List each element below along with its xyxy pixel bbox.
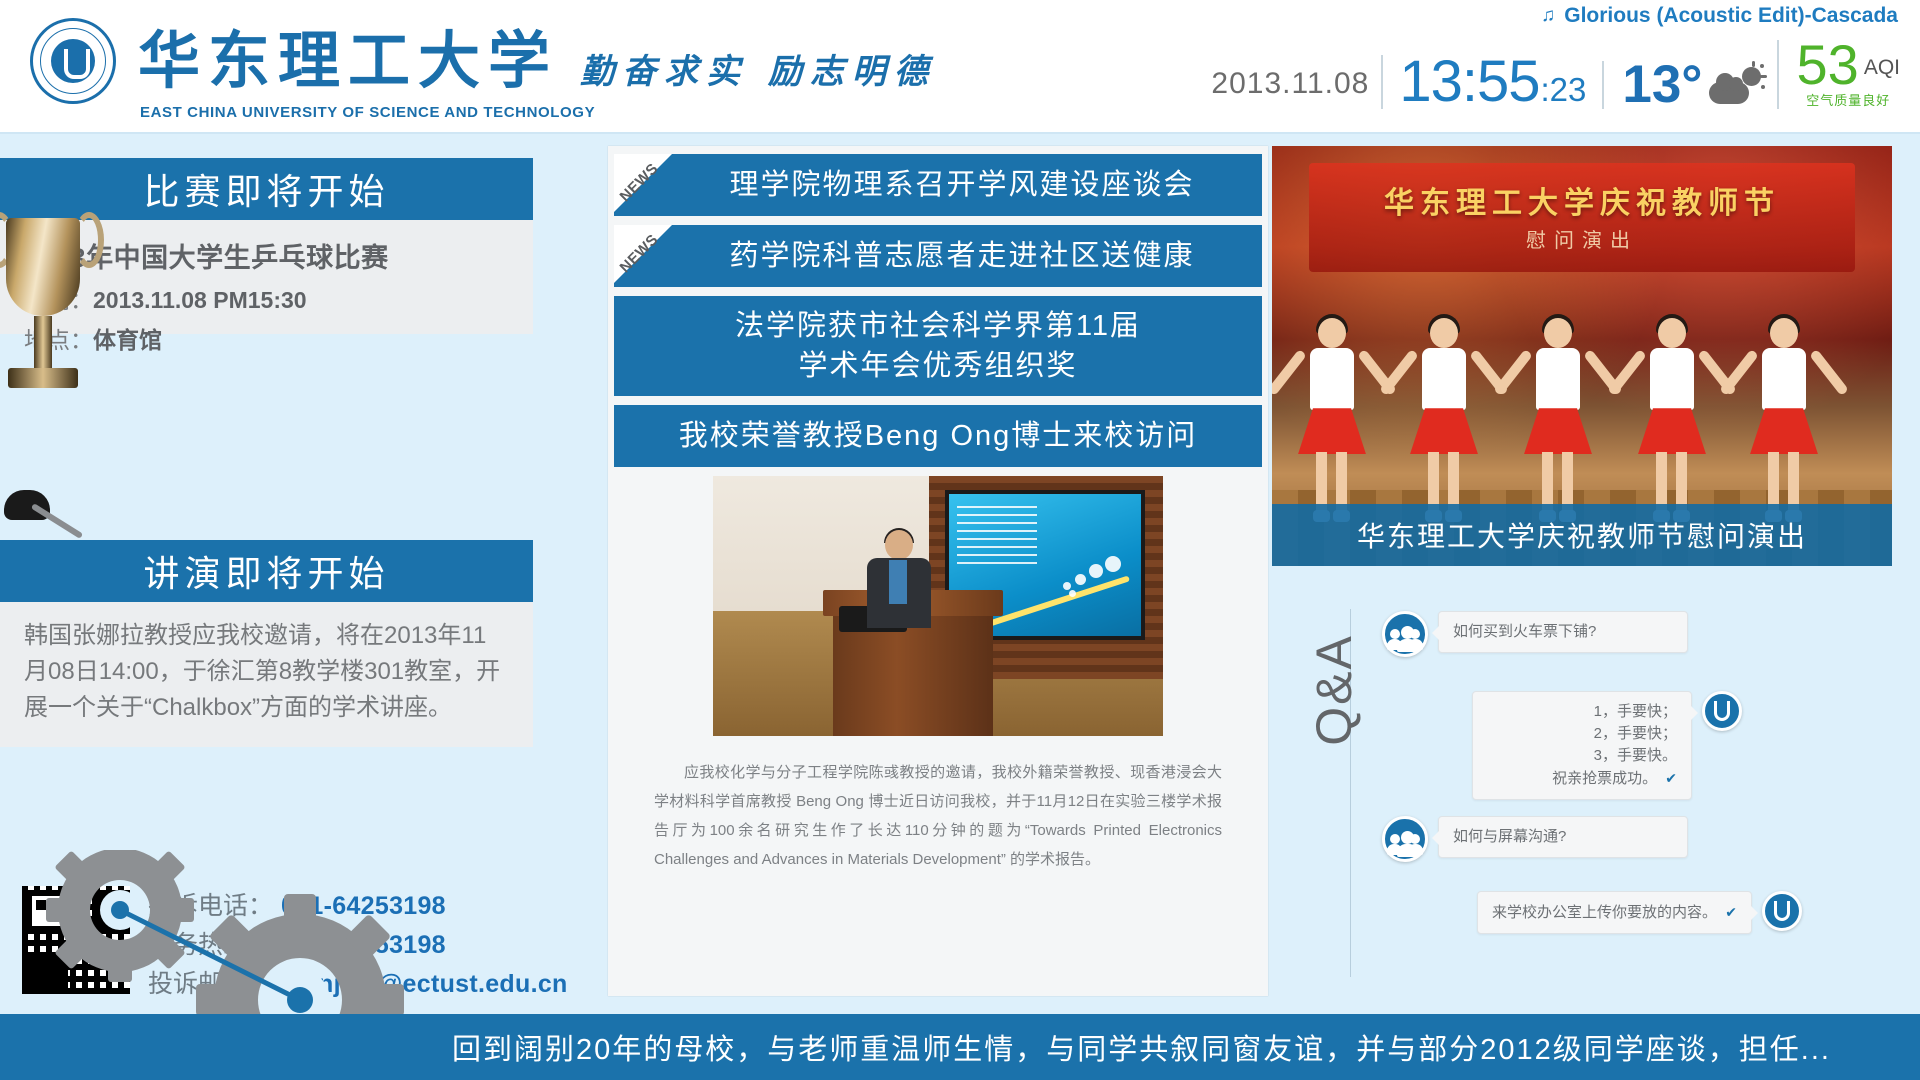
match-place-row: 地点：体育馆 [24,321,509,355]
admin-avatar-icon [1762,891,1802,931]
question-text: 如何与屏幕沟通? [1453,828,1566,845]
trophy-image [0,198,90,488]
stage-banner-line1: 华东理工大学庆祝教师节 [1309,178,1855,222]
page-header: 华东理工大学 EAST CHINA UNIVERSITY OF SCIENCE … [0,0,1920,134]
news-item-text: 药学院科普志愿者走进社区送健康 [729,236,1194,276]
question-bubble: 如何与屏幕沟通? [1438,816,1688,858]
dancer-figure [1290,318,1374,528]
aqi-description: 空气质量良好 [1797,90,1900,109]
news-item[interactable]: 我校荣誉教授Beng Ong博士来校访问 [614,405,1262,467]
dancer-figure [1402,318,1486,528]
qa-message-answer: 来学校办公室上传你要放的内容。 ✔ [1477,891,1802,934]
news-item[interactable]: NEWS 理学院物理系召开学风建设座谈会 [614,154,1262,216]
qa-section-label: Q&A [1305,620,1363,760]
event-photo[interactable]: 华东理工大学庆祝教师节 慰问演出 [1272,146,1892,566]
center-column: NEWS 理学院物理系召开学风建设座谈会 NEWS 药学院科普志愿者走进社区送健… [608,146,1268,996]
admin-avatar-icon [1702,691,1742,731]
temperature-value: 13° [1622,61,1702,110]
news-list: NEWS 理学院物理系召开学风建设座谈会 NEWS 药学院科普志愿者走进社区送健… [608,154,1268,476]
stage-banner: 华东理工大学庆祝教师节 慰问演出 [1309,163,1855,272]
university-motto: 勤奋求实 励志明德 [580,44,936,93]
aqi-unit: AQI [1864,56,1900,80]
qa-section: Q&A 如何买到火车票下铺? 1，手要快； 2，手要快； 3，手要快。 祝亲抢票… [1272,601,1902,1001]
question-text: 如何买到火车票下铺? [1453,623,1596,640]
event-photo-caption: 华东理工大学庆祝教师节慰问演出 [1272,504,1892,566]
now-playing-title: Glorious (Acoustic Edit)-Cascada [1564,4,1898,28]
news-item-text: 法学院获市社会科学界第11届 学术年会优秀组织奖 [735,306,1141,386]
university-logo: 华东理工大学 [30,18,558,104]
dancer-figure [1516,318,1600,528]
news-item[interactable]: 法学院获市社会科学界第11届 学术年会优秀组织奖 [614,296,1262,396]
match-time-row: 时间：2013.11.08 PM15:30 [24,281,509,315]
lecture-description: 韩国张娜拉教授应我校邀请，将在2013年11月08日14:00，于徐汇第8教学楼… [24,618,509,726]
weather-widget: 13° [1602,61,1776,110]
clock-seconds: :23 [1540,71,1586,109]
news-item-text: 理学院物理系召开学风建设座谈会 [729,165,1194,205]
left-column: 比赛即将开始 2013年中国大学生乒乓球比赛 时间：2013.11.08 PM1… [0,136,600,1080]
sun-behind-cloud-icon [1709,64,1763,106]
lecture-panel-body: 韩国张娜拉教授应我校邀请，将在2013年11月08日14:00，于徐汇第8教学楼… [0,602,533,747]
news-ticker: 回到阔别20年的母校，与老师重温师生情，与同学共叙同窗友谊，并与部分2012级同… [0,1014,1920,1080]
dancer-figure [1742,318,1826,528]
speaker-figure [863,530,933,626]
right-column: 华东理工大学庆祝教师节 慰问演出 [1272,146,1920,1046]
university-name-en: EAST CHINA UNIVERSITY OF SCIENCE AND TEC… [140,104,595,121]
question-bubble: 如何买到火车票下铺? [1438,611,1688,653]
answer-bubble: 来学校办公室上传你要放的内容。 ✔ [1477,891,1752,934]
status-bar: 2013.11.08 13:55 :23 13° 53 [1211,40,1900,109]
answer-text: 来学校办公室上传你要放的内容。 [1492,904,1717,921]
qa-message-answer: 1，手要快； 2，手要快； 3，手要快。 祝亲抢票成功。 ✔ [1472,691,1742,800]
lecture-panel-heading: 讲演即将开始 [0,540,533,602]
users-avatar-icon [1382,816,1428,862]
stage-banner-line2: 慰问演出 [1309,224,1855,253]
now-playing: ♫ Glorious (Acoustic Edit)-Cascada [1541,4,1898,28]
chart-dots [1059,556,1119,602]
signage-screen: 华东理工大学 EAST CHINA UNIVERSITY OF SCIENCE … [0,0,1920,1080]
university-name-cn: 华东理工大学 [138,30,558,92]
aqi-widget: 53 AQI 空气质量良好 [1777,40,1900,109]
current-date: 2013.11.08 [1211,67,1381,109]
users-avatar-icon [1382,611,1428,657]
clock-hours-minutes: 13:55 [1399,55,1539,108]
aqi-value: 53 [1797,40,1859,89]
answer-text: 1，手要快； 2，手要快； 3，手要快。 祝亲抢票成功。 [1552,703,1677,787]
qa-message-question: 如何与屏幕沟通? [1382,816,1688,862]
lecture-photo [713,476,1163,736]
ticker-text: 回到阔别20年的母校，与老师重温师生情，与同学共叙同窗友谊，并与部分2012级同… [0,1026,1831,1068]
news-item[interactable]: NEWS 药学院科普志愿者走进社区送健康 [614,225,1262,287]
dancer-figure [1630,318,1714,528]
music-note-icon: ♫ [1541,5,1555,27]
news-item-text: 我校荣誉教授Beng Ong博士来校访问 [679,416,1198,456]
article-caption: 应我校化学与分子工程学院陈彧教授的邀请，我校外籍荣誉教授、现香港浸会大学材料科学… [654,758,1222,874]
answer-bubble: 1，手要快； 2，手要快； 3，手要快。 祝亲抢票成功。 ✔ [1472,691,1692,800]
article-block: 应我校化学与分子工程学院陈彧教授的邀请，我校外籍荣誉教授、现香港浸会大学材料科学… [608,476,1268,874]
university-seal-icon [30,18,116,104]
match-time-value: 2013.11.08 PM15:30 [93,287,307,313]
match-place-value: 体育馆 [93,327,162,353]
qa-message-question: 如何买到火车票下铺? [1382,611,1688,657]
verified-check-icon: ✔ [1725,904,1737,920]
clock: 13:55 :23 [1381,55,1602,109]
verified-check-icon: ✔ [1665,770,1677,786]
